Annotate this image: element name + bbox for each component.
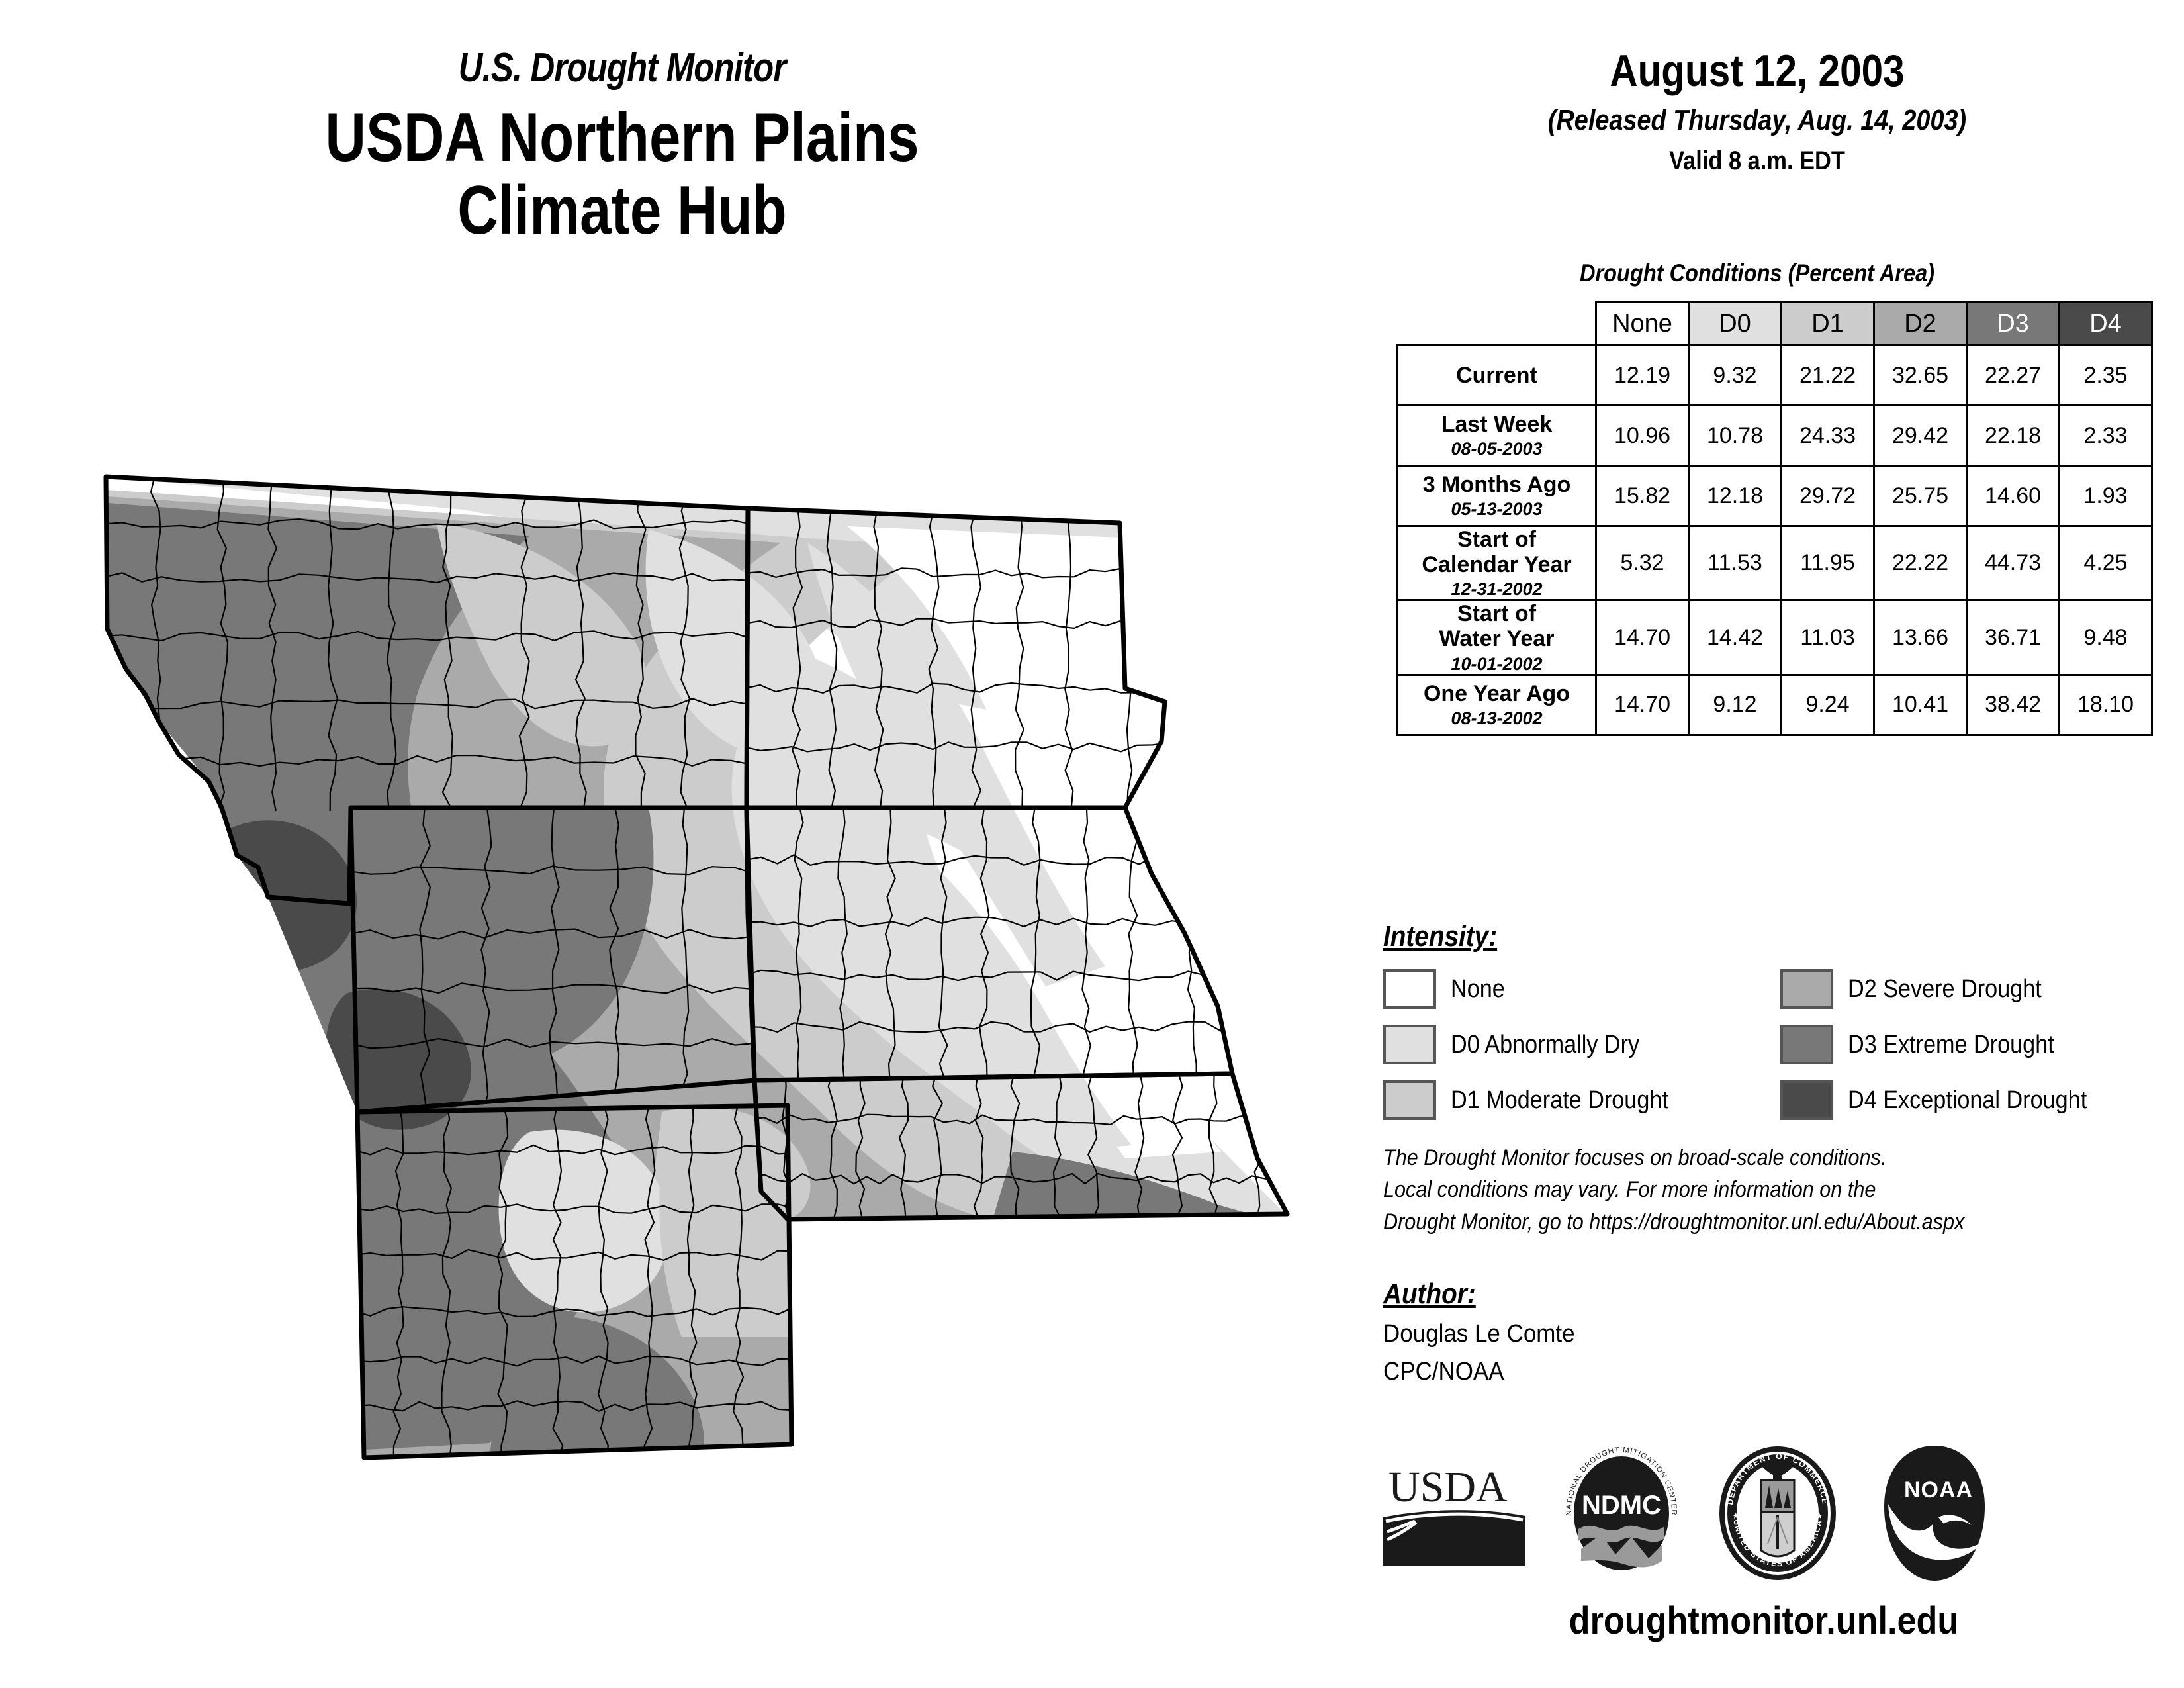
row-label-line: Current xyxy=(1398,363,1595,388)
legend-title: Intensity: xyxy=(1383,920,1497,953)
table-cell-d0: 11.53 xyxy=(1689,526,1782,600)
drought-conditions-table: None D0 D1 D2 D3 D4 Current12.199.3221.2… xyxy=(1396,301,2153,736)
table-cell-d0: 10.78 xyxy=(1689,406,1782,466)
table-cell-none: 14.70 xyxy=(1596,600,1689,675)
table-cell-d0: 9.12 xyxy=(1689,675,1782,735)
svg-text:USDA: USDA xyxy=(1388,1463,1508,1511)
row-label: 3 Months Ago05-13-2003 xyxy=(1398,466,1596,526)
title-block: U.S. Drought Monitor USDA Northern Plain… xyxy=(53,46,1191,248)
legend-label-d0: D0 Abnormally Dry xyxy=(1451,1031,1639,1059)
release-date: (Released Thursday, Aug. 14, 2003) xyxy=(1430,104,2085,137)
usda-logo: USDA xyxy=(1383,1460,1525,1570)
table-cell-d2: 22.22 xyxy=(1874,526,1967,600)
page-title-line2: Climate Hub xyxy=(156,174,1089,247)
row-label: Current xyxy=(1398,346,1596,406)
table-row: Start ofCalendar Year12-31-20025.3211.53… xyxy=(1398,526,2152,600)
column-header-d2: D2 xyxy=(1874,303,1967,346)
table-cell-d4: 1.93 xyxy=(2060,466,2152,526)
legend-item-d4: D4 Exceptional Drought xyxy=(1780,1080,2151,1120)
legend-swatch-d1 xyxy=(1383,1080,1436,1120)
disclaimer-text: The Drought Monitor focuses on broad-sca… xyxy=(1383,1142,2098,1238)
northern-plains-drought-map xyxy=(66,410,1324,1483)
table-cell-none: 12.19 xyxy=(1596,346,1689,406)
author-affiliation: CPC/NOAA xyxy=(1383,1358,1575,1386)
logo-row: USDA NATIONAL DROUGHT MITIGATION CENTER xyxy=(1383,1443,2144,1587)
page-title-line1: USDA Northern Plains xyxy=(325,99,919,176)
table-cell-d4: 18.10 xyxy=(2060,675,2152,735)
row-label: Start ofCalendar Year12-31-2002 xyxy=(1398,526,1596,600)
table-cell-d3: 14.60 xyxy=(1967,466,2060,526)
row-label-line: Start of xyxy=(1398,601,1595,626)
row-label-date: 10-01-2002 xyxy=(1398,654,1595,674)
row-label: Last Week08-05-2003 xyxy=(1398,406,1596,466)
row-label: One Year Ago08-13-2002 xyxy=(1398,675,1596,735)
legend-grid: NoneD2 Severe DroughtD0 Abnormally DryD3… xyxy=(1383,969,2151,1120)
table-cell-d2: 10.41 xyxy=(1874,675,1967,735)
disclaimer-line-2: Local conditions may vary. For more info… xyxy=(1383,1174,2098,1205)
table-cell-d0: 14.42 xyxy=(1689,600,1782,675)
legend-swatch-d4 xyxy=(1780,1080,1833,1120)
column-header-d0: D0 xyxy=(1689,303,1782,346)
table-cell-d2: 25.75 xyxy=(1874,466,1967,526)
author-heading: Author: xyxy=(1383,1278,1476,1311)
row-label: Start ofWater Year10-01-2002 xyxy=(1398,600,1596,675)
table-cell-d0: 12.18 xyxy=(1689,466,1782,526)
table-cell-d1: 24.33 xyxy=(1782,406,1874,466)
table-cell-d1: 11.95 xyxy=(1782,526,1874,600)
column-header-none: None xyxy=(1596,303,1689,346)
noaa-logo: NOAA xyxy=(1875,1443,1994,1587)
intensity-legend: Intensity: NoneD2 Severe DroughtD0 Abnor… xyxy=(1383,920,2151,1120)
legend-swatch-d3 xyxy=(1780,1025,1833,1064)
table-cell-d2: 32.65 xyxy=(1874,346,1967,406)
table-cell-d1: 21.22 xyxy=(1782,346,1874,406)
valid-time: Valid 8 a.m. EDT xyxy=(1430,146,2085,176)
table-row: 3 Months Ago05-13-200315.8212.1829.7225.… xyxy=(1398,466,2152,526)
table-cell-d4: 2.33 xyxy=(2060,406,2152,466)
row-label-line: Last Week xyxy=(1398,412,1595,437)
table-body: Current12.199.3221.2232.6522.272.35Last … xyxy=(1398,346,2152,735)
poster-canvas: U.S. Drought Monitor USDA Northern Plain… xyxy=(0,0,2184,1688)
column-header-d4: D4 xyxy=(2060,303,2152,346)
legend-label-d4: D4 Exceptional Drought xyxy=(1848,1086,2087,1115)
svg-text:★: ★ xyxy=(1732,1511,1740,1521)
table-cell-d2: 13.66 xyxy=(1874,600,1967,675)
row-label-line: One Year Ago xyxy=(1398,681,1595,706)
table-cell-d4: 4.25 xyxy=(2060,526,2152,600)
table-cell-d4: 9.48 xyxy=(2060,600,2152,675)
legend-label-d3: D3 Extreme Drought xyxy=(1848,1031,2054,1059)
ndmc-logo: NATIONAL DROUGHT MITIGATION CENTER UNIVE… xyxy=(1563,1444,1680,1585)
disclaimer-line-3: Drought Monitor, go to https://droughtmo… xyxy=(1383,1206,2098,1238)
table-cell-d1: 29.72 xyxy=(1782,466,1874,526)
table-cell-none: 10.96 xyxy=(1596,406,1689,466)
legend-swatch-d2 xyxy=(1780,969,1833,1009)
table-cell-none: 5.32 xyxy=(1596,526,1689,600)
row-label-date: 05-13-2003 xyxy=(1398,499,1595,519)
page-title: USDA Northern Plains Climate Hub xyxy=(156,101,1089,247)
table-cell-d3: 22.18 xyxy=(1967,406,2060,466)
table-cell-none: 14.70 xyxy=(1596,675,1689,735)
table-cell-none: 15.82 xyxy=(1596,466,1689,526)
table-row: One Year Ago08-13-200214.709.129.2410.41… xyxy=(1398,675,2152,735)
table-cell-d3: 38.42 xyxy=(1967,675,2060,735)
table-cell-d3: 44.73 xyxy=(1967,526,2060,600)
table-header-row: None D0 D1 D2 D3 D4 xyxy=(1398,303,2152,346)
page-subtitle: U.S. Drought Monitor xyxy=(156,46,1089,89)
table-cell-d2: 29.42 xyxy=(1874,406,1967,466)
row-label-line: Start of xyxy=(1398,527,1595,552)
svg-text:★: ★ xyxy=(1815,1511,1823,1521)
svg-text:NDMC: NDMC xyxy=(1582,1491,1661,1520)
table-cell-d1: 11.03 xyxy=(1782,600,1874,675)
table-cell-d4: 2.35 xyxy=(2060,346,2152,406)
author-name: Douglas Le Comte xyxy=(1383,1320,1575,1348)
issue-date: August 12, 2003 xyxy=(1430,46,2085,96)
legend-item-d0: D0 Abnormally Dry xyxy=(1383,1025,1780,1064)
svg-text:NOAA: NOAA xyxy=(1904,1477,1973,1503)
table-caption: Drought Conditions (Percent Area) xyxy=(1422,259,2092,287)
legend-label-d1: D1 Moderate Drought xyxy=(1451,1086,1668,1115)
table-cell-d3: 22.27 xyxy=(1967,346,2060,406)
table-row: Current12.199.3221.2232.6522.272.35 xyxy=(1398,346,2152,406)
table-corner-cell xyxy=(1398,303,1596,346)
row-label-line: Water Year xyxy=(1398,626,1595,651)
row-label-date: 08-13-2002 xyxy=(1398,708,1595,728)
legend-item-d3: D3 Extreme Drought xyxy=(1780,1025,2151,1064)
doc-seal-logo: DEPARTMENT OF COMMERCE UNITED STATES OF … xyxy=(1717,1444,1838,1585)
legend-label-none: None xyxy=(1451,975,1505,1004)
row-label-date: 12-31-2002 xyxy=(1398,579,1595,599)
author-block: Author: Douglas Le Comte CPC/NOAA xyxy=(1383,1278,1592,1386)
table-row: Last Week08-05-200310.9610.7824.3329.422… xyxy=(1398,406,2152,466)
column-header-d3: D3 xyxy=(1967,303,2060,346)
legend-item-d1: D1 Moderate Drought xyxy=(1383,1080,1780,1120)
table-row: Start ofWater Year10-01-200214.7014.4211… xyxy=(1398,600,2152,675)
legend-swatch-none xyxy=(1383,969,1436,1009)
table-cell-d1: 9.24 xyxy=(1782,675,1874,735)
column-header-d1: D1 xyxy=(1782,303,1874,346)
legend-label-d2: D2 Severe Drought xyxy=(1848,975,2042,1004)
legend-swatch-d0 xyxy=(1383,1025,1436,1064)
site-url: droughtmonitor.unl.edu xyxy=(1422,1599,2107,1643)
row-label-line: 3 Months Ago xyxy=(1398,472,1595,497)
table-cell-d3: 36.71 xyxy=(1967,600,2060,675)
disclaimer-line-1: The Drought Monitor focuses on broad-sca… xyxy=(1383,1142,2098,1174)
row-label-date: 08-05-2003 xyxy=(1398,439,1595,459)
legend-item-d2: D2 Severe Drought xyxy=(1780,969,2151,1009)
legend-item-none: None xyxy=(1383,969,1780,1009)
row-label-line: Calendar Year xyxy=(1398,552,1595,577)
table-cell-d0: 9.32 xyxy=(1689,346,1782,406)
date-header: August 12, 2003 (Released Thursday, Aug.… xyxy=(1377,46,2138,176)
drought-shading-layer xyxy=(66,410,1324,1483)
